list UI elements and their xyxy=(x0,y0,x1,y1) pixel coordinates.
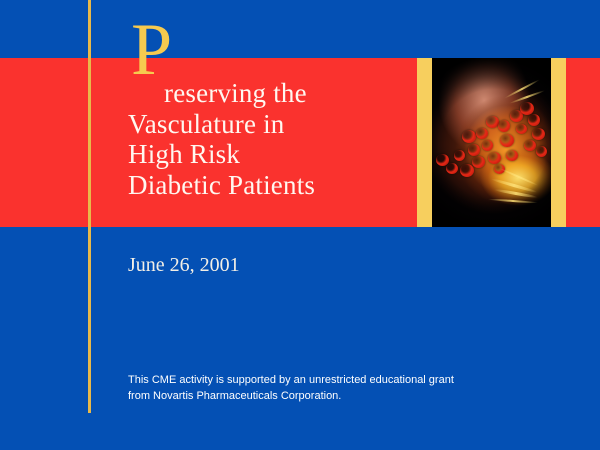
grant-statement: This CME activity is supported by an unr… xyxy=(128,373,528,404)
blood-cell xyxy=(468,144,480,156)
red-blood-cell-cluster xyxy=(432,58,551,227)
blood-cell xyxy=(506,150,518,161)
title-line-2: Vasculature in xyxy=(128,109,418,140)
blood-cell xyxy=(498,120,510,132)
blood-cell xyxy=(500,134,514,147)
blood-cell xyxy=(516,124,527,134)
blood-cell xyxy=(462,130,476,143)
blood-cell xyxy=(446,163,458,174)
title-line-1: reserving the xyxy=(128,78,418,109)
blood-cell xyxy=(476,128,488,139)
photo-block xyxy=(417,58,566,227)
blood-cell xyxy=(528,114,540,126)
title-line-3: High Risk xyxy=(128,139,418,170)
blood-cell xyxy=(472,156,485,168)
grant-statement-line-1: This CME activity is supported by an unr… xyxy=(128,373,528,389)
presentation-date: June 26, 2001 xyxy=(128,253,240,277)
blood-cell xyxy=(532,128,545,140)
blood-cell xyxy=(460,164,474,177)
gold-vertical-rule xyxy=(88,0,91,413)
fibre-streak xyxy=(504,79,540,100)
grant-statement-line-2: from Novartis Pharmaceuticals Corporatio… xyxy=(128,389,528,405)
fibre-streak xyxy=(488,198,538,203)
title-slide: P reserving the Vasculature in High Risk… xyxy=(0,0,600,450)
blood-cell xyxy=(524,140,536,151)
title-drop-cap: P xyxy=(131,13,172,87)
blood-cell xyxy=(482,140,493,151)
blood-cell xyxy=(454,150,465,161)
blood-cell xyxy=(536,146,547,157)
blood-cell-micrograph xyxy=(432,58,551,227)
title-line-4: Diabetic Patients xyxy=(128,170,418,201)
page-title: reserving the Vasculature in High Risk D… xyxy=(128,78,418,200)
blood-cell xyxy=(520,102,534,115)
blood-cell xyxy=(488,152,501,164)
